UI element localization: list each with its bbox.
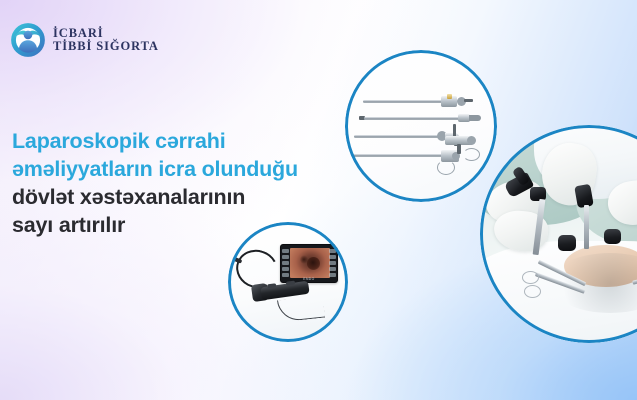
endoscope-monitor: ENDO — [280, 244, 338, 283]
brand-logo-text: İCBARİ TİBBİ SIĞORTA — [53, 27, 159, 54]
monitor-right-controls — [329, 249, 336, 277]
scissors-ring-lower — [524, 285, 541, 298]
trocar-port-left — [558, 235, 576, 251]
brand-logo-line2: TİBBİ SIĞORTA — [53, 40, 159, 54]
endoscope-monitor-photo: ENDO — [228, 222, 348, 342]
operating-room-scene — [480, 125, 637, 343]
brand-logo-line1: İCBARİ — [53, 27, 159, 41]
brand-logo[interactable]: İCBARİ TİBBİ SIĞORTA — [10, 22, 159, 58]
instrument-trocar-b — [359, 112, 483, 124]
instrument-shaft-center — [584, 205, 589, 249]
headline-line-1: Laparoskopik cərrahi — [12, 128, 298, 156]
headline-line-3: dövlət xəstəxanalarının — [12, 184, 298, 212]
operating-room-surgery-photo — [480, 125, 637, 343]
scissors-ring-upper — [522, 271, 539, 284]
endoscope-scene: ENDO — [228, 222, 348, 342]
instrument-trocar-a — [363, 94, 475, 108]
endoscope-screen-image — [290, 248, 330, 278]
icbari-tibbi-sigorta-emblem-icon — [10, 22, 46, 58]
monitor-left-controls — [282, 249, 289, 277]
endoscope-insertion-tube — [277, 296, 325, 323]
headline-line-2: əməliyyatların icra olunduğu — [12, 156, 298, 184]
headline: Laparoskopik cərrahi əməliyyatların icra… — [12, 128, 298, 240]
laparoscopic-instruments-photo — [345, 50, 497, 202]
trocar-port-center — [604, 229, 621, 244]
promo-banner: İCBARİ TİBBİ SIĞORTA Laparoskopik cərrah… — [0, 0, 637, 400]
instruments-scene — [345, 50, 497, 202]
